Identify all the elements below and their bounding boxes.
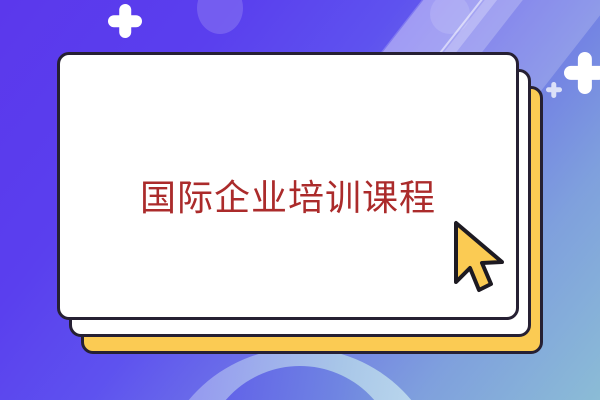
- page-title: 国际企业培训课程: [140, 169, 436, 221]
- plus-icon: [108, 4, 142, 38]
- plus-icon-bar: [546, 87, 562, 92]
- arc-ring-icon: [155, 348, 445, 400]
- plus-icon-bar: [551, 82, 556, 98]
- plus-icon-bar: [119, 4, 131, 38]
- plus-icon: [546, 82, 562, 98]
- soft-circle-icon: [430, 0, 470, 34]
- plus-icon-bar: [564, 66, 600, 80]
- soft-circle-icon: [197, 0, 243, 34]
- cursor-arrow-icon: [450, 220, 510, 294]
- arc-ring-icon: [202, 366, 398, 400]
- plus-icon: [564, 52, 600, 94]
- card-stack: 国际企业培训课程: [57, 52, 543, 354]
- plus-icon-bar: [578, 52, 592, 94]
- slide-canvas: 国际企业培训课程: [0, 0, 600, 400]
- plus-icon-bar: [108, 15, 142, 27]
